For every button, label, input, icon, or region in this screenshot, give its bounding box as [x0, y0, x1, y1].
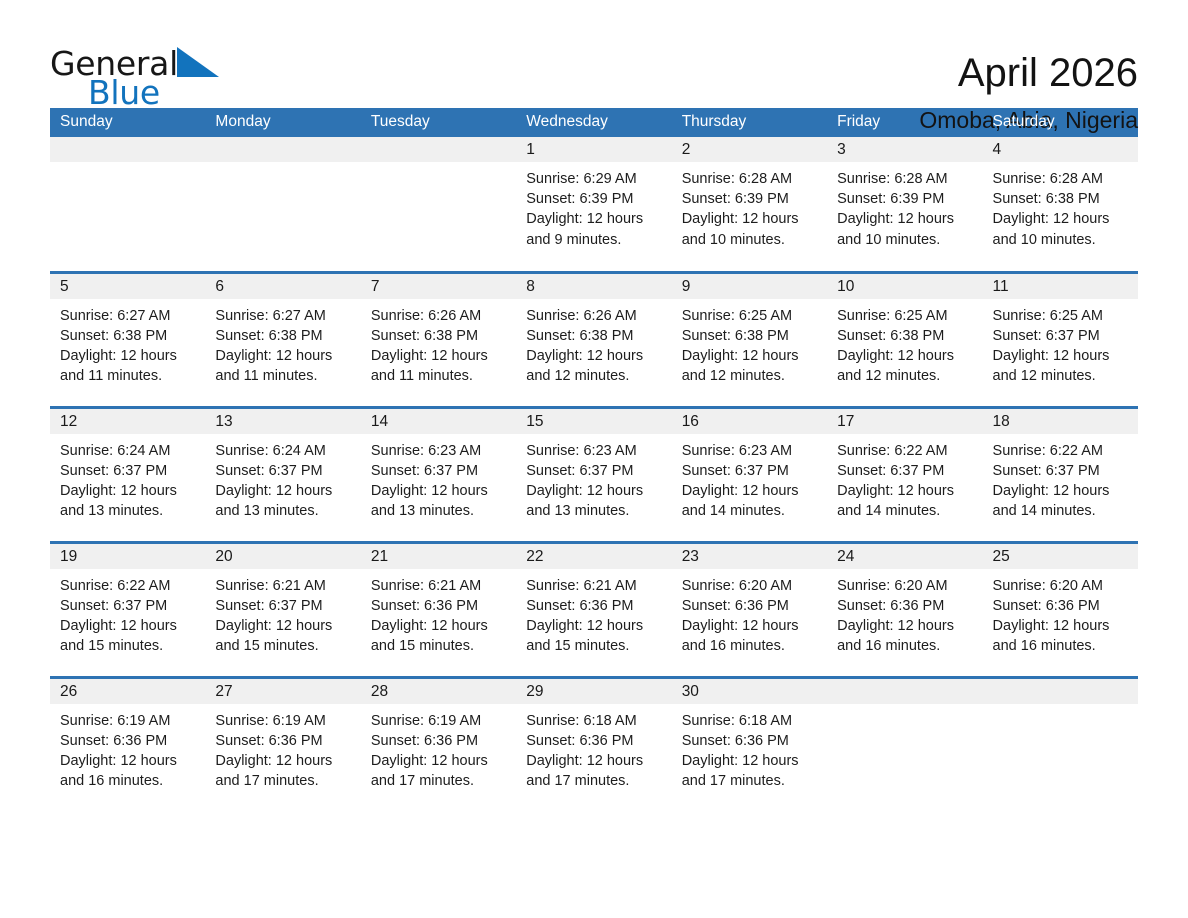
- day-number: [361, 137, 516, 162]
- calendar-day-cell[interactable]: 16Sunrise: 6:23 AMSunset: 6:37 PMDayligh…: [672, 407, 827, 542]
- day-number: 30: [672, 679, 827, 704]
- weekday-header-wednesday: Wednesday: [516, 108, 671, 137]
- calendar-day-cell[interactable]: 11Sunrise: 6:25 AMSunset: 6:37 PMDayligh…: [983, 272, 1138, 407]
- day-number: 6: [205, 274, 360, 299]
- day-number: 11: [983, 274, 1138, 299]
- calendar-day-cell[interactable]: 19Sunrise: 6:22 AMSunset: 6:37 PMDayligh…: [50, 542, 205, 677]
- weekday-header-thursday: Thursday: [672, 108, 827, 137]
- day-number: [205, 137, 360, 162]
- daylight-text-line2: and 10 minutes.: [993, 230, 1138, 250]
- day-details: Sunrise: 6:21 AMSunset: 6:36 PMDaylight:…: [361, 569, 516, 657]
- day-number: [983, 679, 1138, 704]
- day-number: 22: [516, 544, 671, 569]
- daylight-text-line2: and 13 minutes.: [215, 501, 360, 521]
- calendar-day-cell[interactable]: 22Sunrise: 6:21 AMSunset: 6:36 PMDayligh…: [516, 542, 671, 677]
- calendar-day-cell[interactable]: 18Sunrise: 6:22 AMSunset: 6:37 PMDayligh…: [983, 407, 1138, 542]
- calendar-day-cell[interactable]: 10Sunrise: 6:25 AMSunset: 6:38 PMDayligh…: [827, 272, 982, 407]
- daylight-text-line1: Daylight: 12 hours: [682, 616, 827, 636]
- calendar-week-row: 1Sunrise: 6:29 AMSunset: 6:39 PMDaylight…: [50, 137, 1138, 272]
- calendar-day-cell[interactable]: 3Sunrise: 6:28 AMSunset: 6:39 PMDaylight…: [827, 137, 982, 272]
- page-title: April 2026: [919, 49, 1138, 97]
- sunrise-text: Sunrise: 6:27 AM: [60, 306, 205, 326]
- day-number: 17: [827, 409, 982, 434]
- daylight-text-line1: Daylight: 12 hours: [215, 616, 360, 636]
- day-number: 5: [50, 274, 205, 299]
- sunrise-text: Sunrise: 6:22 AM: [60, 576, 205, 596]
- sunrise-text: Sunrise: 6:29 AM: [526, 169, 671, 189]
- daylight-text-line1: Daylight: 12 hours: [682, 481, 827, 501]
- daylight-text-line1: Daylight: 12 hours: [526, 481, 671, 501]
- daylight-text-line1: Daylight: 12 hours: [526, 346, 671, 366]
- calendar-day-cell[interactable]: 1Sunrise: 6:29 AMSunset: 6:39 PMDaylight…: [516, 137, 671, 272]
- daylight-text-line2: and 16 minutes.: [993, 636, 1138, 656]
- daylight-text-line2: and 11 minutes.: [371, 366, 516, 386]
- day-details: Sunrise: 6:19 AMSunset: 6:36 PMDaylight:…: [50, 704, 205, 792]
- daylight-text-line2: and 15 minutes.: [60, 636, 205, 656]
- sunrise-text: Sunrise: 6:28 AM: [993, 169, 1138, 189]
- day-number: 16: [672, 409, 827, 434]
- day-details: Sunrise: 6:22 AMSunset: 6:37 PMDaylight:…: [827, 434, 982, 522]
- day-details: Sunrise: 6:29 AMSunset: 6:39 PMDaylight:…: [516, 162, 671, 250]
- sunrise-text: Sunrise: 6:28 AM: [682, 169, 827, 189]
- calendar-day-cell[interactable]: 14Sunrise: 6:23 AMSunset: 6:37 PMDayligh…: [361, 407, 516, 542]
- calendar-week-row: 12Sunrise: 6:24 AMSunset: 6:37 PMDayligh…: [50, 407, 1138, 542]
- weekday-header-tuesday: Tuesday: [361, 108, 516, 137]
- calendar-day-cell[interactable]: 27Sunrise: 6:19 AMSunset: 6:36 PMDayligh…: [205, 677, 360, 812]
- sunset-text: Sunset: 6:36 PM: [526, 596, 671, 616]
- sunrise-text: Sunrise: 6:27 AM: [215, 306, 360, 326]
- daylight-text-line2: and 14 minutes.: [682, 501, 827, 521]
- calendar-day-cell[interactable]: 7Sunrise: 6:26 AMSunset: 6:38 PMDaylight…: [361, 272, 516, 407]
- sunset-text: Sunset: 6:39 PM: [837, 189, 982, 209]
- sunrise-text: Sunrise: 6:19 AM: [215, 711, 360, 731]
- day-number: 21: [361, 544, 516, 569]
- daylight-text-line2: and 13 minutes.: [526, 501, 671, 521]
- day-details: [827, 704, 982, 711]
- daylight-text-line1: Daylight: 12 hours: [60, 481, 205, 501]
- sunset-text: Sunset: 6:36 PM: [371, 731, 516, 751]
- day-number: 28: [361, 679, 516, 704]
- sunrise-text: Sunrise: 6:22 AM: [993, 441, 1138, 461]
- daylight-text-line2: and 15 minutes.: [526, 636, 671, 656]
- day-number: 19: [50, 544, 205, 569]
- daylight-text-line1: Daylight: 12 hours: [60, 346, 205, 366]
- daylight-text-line1: Daylight: 12 hours: [60, 751, 205, 771]
- day-number: 8: [516, 274, 671, 299]
- calendar-week-row: 26Sunrise: 6:19 AMSunset: 6:36 PMDayligh…: [50, 677, 1138, 812]
- sunrise-text: Sunrise: 6:25 AM: [993, 306, 1138, 326]
- day-details: Sunrise: 6:25 AMSunset: 6:38 PMDaylight:…: [672, 299, 827, 387]
- daylight-text-line2: and 16 minutes.: [60, 771, 205, 791]
- day-details: Sunrise: 6:26 AMSunset: 6:38 PMDaylight:…: [516, 299, 671, 387]
- sunrise-text: Sunrise: 6:19 AM: [60, 711, 205, 731]
- sunset-text: Sunset: 6:38 PM: [993, 189, 1138, 209]
- day-number: 1: [516, 137, 671, 162]
- sunset-text: Sunset: 6:37 PM: [993, 461, 1138, 481]
- daylight-text-line2: and 12 minutes.: [682, 366, 827, 386]
- calendar-day-cell[interactable]: 20Sunrise: 6:21 AMSunset: 6:37 PMDayligh…: [205, 542, 360, 677]
- sunrise-text: Sunrise: 6:24 AM: [215, 441, 360, 461]
- calendar-day-cell[interactable]: 8Sunrise: 6:26 AMSunset: 6:38 PMDaylight…: [516, 272, 671, 407]
- day-details: Sunrise: 6:21 AMSunset: 6:36 PMDaylight:…: [516, 569, 671, 657]
- calendar-week-row: 19Sunrise: 6:22 AMSunset: 6:37 PMDayligh…: [50, 542, 1138, 677]
- sunrise-text: Sunrise: 6:26 AM: [371, 306, 516, 326]
- sunset-text: Sunset: 6:37 PM: [371, 461, 516, 481]
- sunset-text: Sunset: 6:37 PM: [526, 461, 671, 481]
- daylight-text-line1: Daylight: 12 hours: [526, 751, 671, 771]
- day-details: Sunrise: 6:19 AMSunset: 6:36 PMDaylight:…: [205, 704, 360, 792]
- sunset-text: Sunset: 6:38 PM: [682, 326, 827, 346]
- daylight-text-line2: and 17 minutes.: [526, 771, 671, 791]
- sunset-text: Sunset: 6:36 PM: [371, 596, 516, 616]
- day-details: Sunrise: 6:25 AMSunset: 6:38 PMDaylight:…: [827, 299, 982, 387]
- calendar-day-cell-empty: [205, 137, 360, 272]
- calendar-day-cell[interactable]: 23Sunrise: 6:20 AMSunset: 6:36 PMDayligh…: [672, 542, 827, 677]
- day-details: Sunrise: 6:28 AMSunset: 6:39 PMDaylight:…: [827, 162, 982, 250]
- sunrise-text: Sunrise: 6:18 AM: [526, 711, 671, 731]
- daylight-text-line2: and 12 minutes.: [993, 366, 1138, 386]
- daylight-text-line1: Daylight: 12 hours: [993, 481, 1138, 501]
- daylight-text-line1: Daylight: 12 hours: [837, 616, 982, 636]
- day-details: Sunrise: 6:18 AMSunset: 6:36 PMDaylight:…: [516, 704, 671, 792]
- day-number: 25: [983, 544, 1138, 569]
- calendar-day-cell-empty: [827, 677, 982, 812]
- daylight-text-line1: Daylight: 12 hours: [837, 481, 982, 501]
- sunrise-text: Sunrise: 6:18 AM: [682, 711, 827, 731]
- sunset-text: Sunset: 6:37 PM: [215, 596, 360, 616]
- day-number: 2: [672, 137, 827, 162]
- day-number: 7: [361, 274, 516, 299]
- daylight-text-line2: and 17 minutes.: [371, 771, 516, 791]
- day-number: 15: [516, 409, 671, 434]
- calendar-day-cell[interactable]: 4Sunrise: 6:28 AMSunset: 6:38 PMDaylight…: [983, 137, 1138, 272]
- day-number: 12: [50, 409, 205, 434]
- day-number: [50, 137, 205, 162]
- day-number: 9: [672, 274, 827, 299]
- day-details: Sunrise: 6:24 AMSunset: 6:37 PMDaylight:…: [205, 434, 360, 522]
- sunset-text: Sunset: 6:37 PM: [60, 596, 205, 616]
- calendar-page: General Blue April 2026 Omoba, Abia, Nig…: [0, 0, 1188, 918]
- sunrise-text: Sunrise: 6:20 AM: [993, 576, 1138, 596]
- daylight-text-line1: Daylight: 12 hours: [526, 616, 671, 636]
- daylight-text-line1: Daylight: 12 hours: [371, 346, 516, 366]
- calendar-day-cell[interactable]: 2Sunrise: 6:28 AMSunset: 6:39 PMDaylight…: [672, 137, 827, 272]
- sunset-text: Sunset: 6:37 PM: [837, 461, 982, 481]
- daylight-text-line2: and 14 minutes.: [837, 501, 982, 521]
- daylight-text-line2: and 17 minutes.: [682, 771, 827, 791]
- calendar-day-cell-empty: [50, 137, 205, 272]
- daylight-text-line1: Daylight: 12 hours: [993, 209, 1138, 229]
- daylight-text-line1: Daylight: 12 hours: [371, 616, 516, 636]
- sunset-text: Sunset: 6:36 PM: [526, 731, 671, 751]
- day-details: Sunrise: 6:22 AMSunset: 6:37 PMDaylight:…: [983, 434, 1138, 522]
- calendar-day-cell[interactable]: 6Sunrise: 6:27 AMSunset: 6:38 PMDaylight…: [205, 272, 360, 407]
- daylight-text-line1: Daylight: 12 hours: [215, 481, 360, 501]
- day-number: 29: [516, 679, 671, 704]
- calendar-day-cell[interactable]: 29Sunrise: 6:18 AMSunset: 6:36 PMDayligh…: [516, 677, 671, 812]
- daylight-text-line1: Daylight: 12 hours: [215, 751, 360, 771]
- sunrise-text: Sunrise: 6:22 AM: [837, 441, 982, 461]
- sunrise-text: Sunrise: 6:24 AM: [60, 441, 205, 461]
- day-details: Sunrise: 6:18 AMSunset: 6:36 PMDaylight:…: [672, 704, 827, 792]
- day-details: Sunrise: 6:24 AMSunset: 6:37 PMDaylight:…: [50, 434, 205, 522]
- sunset-text: Sunset: 6:37 PM: [215, 461, 360, 481]
- day-number: 27: [205, 679, 360, 704]
- calendar-day-cell[interactable]: 24Sunrise: 6:20 AMSunset: 6:36 PMDayligh…: [827, 542, 982, 677]
- sunset-text: Sunset: 6:38 PM: [837, 326, 982, 346]
- daylight-text-line1: Daylight: 12 hours: [682, 751, 827, 771]
- day-details: Sunrise: 6:19 AMSunset: 6:36 PMDaylight:…: [361, 704, 516, 792]
- daylight-text-line2: and 9 minutes.: [526, 230, 671, 250]
- daylight-text-line1: Daylight: 12 hours: [60, 616, 205, 636]
- daylight-text-line2: and 10 minutes.: [682, 230, 827, 250]
- sunset-text: Sunset: 6:38 PM: [526, 326, 671, 346]
- daylight-text-line2: and 11 minutes.: [215, 366, 360, 386]
- daylight-text-line1: Daylight: 12 hours: [371, 481, 516, 501]
- sunrise-text: Sunrise: 6:25 AM: [682, 306, 827, 326]
- day-number: 13: [205, 409, 360, 434]
- sunset-text: Sunset: 6:37 PM: [60, 461, 205, 481]
- daylight-text-line1: Daylight: 12 hours: [371, 751, 516, 771]
- day-number: [827, 679, 982, 704]
- calendar-day-cell[interactable]: 13Sunrise: 6:24 AMSunset: 6:37 PMDayligh…: [205, 407, 360, 542]
- day-number: 24: [827, 544, 982, 569]
- daylight-text-line1: Daylight: 12 hours: [682, 209, 827, 229]
- page-header: General Blue April 2026 Omoba, Abia, Nig…: [50, 0, 1138, 98]
- day-details: Sunrise: 6:26 AMSunset: 6:38 PMDaylight:…: [361, 299, 516, 387]
- day-details: Sunrise: 6:20 AMSunset: 6:36 PMDaylight:…: [827, 569, 982, 657]
- daylight-text-line2: and 11 minutes.: [60, 366, 205, 386]
- day-number: 23: [672, 544, 827, 569]
- sunset-text: Sunset: 6:38 PM: [60, 326, 205, 346]
- generalblue-logo[interactable]: General Blue: [50, 47, 250, 117]
- day-details: Sunrise: 6:20 AMSunset: 6:36 PMDaylight:…: [983, 569, 1138, 657]
- sunrise-text: Sunrise: 6:26 AM: [526, 306, 671, 326]
- day-details: Sunrise: 6:25 AMSunset: 6:37 PMDaylight:…: [983, 299, 1138, 387]
- daylight-text-line2: and 15 minutes.: [371, 636, 516, 656]
- daylight-text-line2: and 17 minutes.: [215, 771, 360, 791]
- day-number: 14: [361, 409, 516, 434]
- daylight-text-line2: and 10 minutes.: [837, 230, 982, 250]
- sunset-text: Sunset: 6:39 PM: [526, 189, 671, 209]
- calendar-day-cell[interactable]: 5Sunrise: 6:27 AMSunset: 6:38 PMDaylight…: [50, 272, 205, 407]
- calendar-day-cell[interactable]: 12Sunrise: 6:24 AMSunset: 6:37 PMDayligh…: [50, 407, 205, 542]
- day-details: Sunrise: 6:20 AMSunset: 6:36 PMDaylight:…: [672, 569, 827, 657]
- daylight-text-line2: and 14 minutes.: [993, 501, 1138, 521]
- sunset-text: Sunset: 6:39 PM: [682, 189, 827, 209]
- calendar-day-cell[interactable]: 21Sunrise: 6:21 AMSunset: 6:36 PMDayligh…: [361, 542, 516, 677]
- sunrise-text: Sunrise: 6:21 AM: [371, 576, 516, 596]
- sunset-text: Sunset: 6:36 PM: [60, 731, 205, 751]
- calendar-day-cell-empty: [361, 137, 516, 272]
- day-details: [50, 162, 205, 169]
- calendar-day-cell[interactable]: 17Sunrise: 6:22 AMSunset: 6:37 PMDayligh…: [827, 407, 982, 542]
- calendar-day-cell[interactable]: 28Sunrise: 6:19 AMSunset: 6:36 PMDayligh…: [361, 677, 516, 812]
- sunset-text: Sunset: 6:36 PM: [993, 596, 1138, 616]
- daylight-text-line2: and 12 minutes.: [526, 366, 671, 386]
- sunrise-text: Sunrise: 6:23 AM: [371, 441, 516, 461]
- daylight-text-line1: Daylight: 12 hours: [682, 346, 827, 366]
- calendar-day-cell[interactable]: 26Sunrise: 6:19 AMSunset: 6:36 PMDayligh…: [50, 677, 205, 812]
- sunrise-text: Sunrise: 6:23 AM: [682, 441, 827, 461]
- day-details: Sunrise: 6:23 AMSunset: 6:37 PMDaylight:…: [516, 434, 671, 522]
- day-details: [205, 162, 360, 169]
- daylight-text-line1: Daylight: 12 hours: [837, 209, 982, 229]
- sunrise-text: Sunrise: 6:20 AM: [837, 576, 982, 596]
- day-details: Sunrise: 6:28 AMSunset: 6:39 PMDaylight:…: [672, 162, 827, 250]
- day-details: Sunrise: 6:21 AMSunset: 6:37 PMDaylight:…: [205, 569, 360, 657]
- day-details: [361, 162, 516, 169]
- daylight-text-line1: Daylight: 12 hours: [215, 346, 360, 366]
- daylight-text-line2: and 12 minutes.: [837, 366, 982, 386]
- calendar-day-cell[interactable]: 30Sunrise: 6:18 AMSunset: 6:36 PMDayligh…: [672, 677, 827, 812]
- day-number: 10: [827, 274, 982, 299]
- day-number: 20: [205, 544, 360, 569]
- sunset-text: Sunset: 6:36 PM: [682, 596, 827, 616]
- day-number: 3: [827, 137, 982, 162]
- day-details: Sunrise: 6:22 AMSunset: 6:37 PMDaylight:…: [50, 569, 205, 657]
- daylight-text-line1: Daylight: 12 hours: [993, 616, 1138, 636]
- sunrise-text: Sunrise: 6:20 AM: [682, 576, 827, 596]
- day-number: 4: [983, 137, 1138, 162]
- calendar-day-cell[interactable]: 9Sunrise: 6:25 AMSunset: 6:38 PMDaylight…: [672, 272, 827, 407]
- calendar-day-cell[interactable]: 15Sunrise: 6:23 AMSunset: 6:37 PMDayligh…: [516, 407, 671, 542]
- sunrise-text: Sunrise: 6:21 AM: [215, 576, 360, 596]
- day-number: 18: [983, 409, 1138, 434]
- logo-triangle-icon: [177, 47, 219, 77]
- daylight-text-line1: Daylight: 12 hours: [526, 209, 671, 229]
- sunrise-text: Sunrise: 6:25 AM: [837, 306, 982, 326]
- daylight-text-line1: Daylight: 12 hours: [993, 346, 1138, 366]
- sunrise-text: Sunrise: 6:19 AM: [371, 711, 516, 731]
- daylight-text-line2: and 16 minutes.: [682, 636, 827, 656]
- sunset-text: Sunset: 6:36 PM: [215, 731, 360, 751]
- day-details: Sunrise: 6:27 AMSunset: 6:38 PMDaylight:…: [50, 299, 205, 387]
- sunset-text: Sunset: 6:36 PM: [682, 731, 827, 751]
- day-number: 26: [50, 679, 205, 704]
- sunset-text: Sunset: 6:38 PM: [371, 326, 516, 346]
- sunset-text: Sunset: 6:36 PM: [837, 596, 982, 616]
- daylight-text-line1: Daylight: 12 hours: [837, 346, 982, 366]
- calendar-week-row: 5Sunrise: 6:27 AMSunset: 6:38 PMDaylight…: [50, 272, 1138, 407]
- calendar-day-cell[interactable]: 25Sunrise: 6:20 AMSunset: 6:36 PMDayligh…: [983, 542, 1138, 677]
- calendar-body: 1Sunrise: 6:29 AMSunset: 6:39 PMDaylight…: [50, 137, 1138, 812]
- daylight-text-line2: and 16 minutes.: [837, 636, 982, 656]
- sunset-text: Sunset: 6:37 PM: [682, 461, 827, 481]
- sunrise-text: Sunrise: 6:21 AM: [526, 576, 671, 596]
- calendar-day-cell-empty: [983, 677, 1138, 812]
- daylight-text-line2: and 13 minutes.: [371, 501, 516, 521]
- day-details: Sunrise: 6:23 AMSunset: 6:37 PMDaylight:…: [672, 434, 827, 522]
- day-details: Sunrise: 6:28 AMSunset: 6:38 PMDaylight:…: [983, 162, 1138, 250]
- sunrise-text: Sunrise: 6:23 AM: [526, 441, 671, 461]
- daylight-text-line2: and 15 minutes.: [215, 636, 360, 656]
- sunset-text: Sunset: 6:37 PM: [993, 326, 1138, 346]
- sunset-text: Sunset: 6:38 PM: [215, 326, 360, 346]
- day-details: [983, 704, 1138, 711]
- calendar-table: Sunday Monday Tuesday Wednesday Thursday…: [50, 108, 1138, 812]
- sunrise-text: Sunrise: 6:28 AM: [837, 169, 982, 189]
- day-details: Sunrise: 6:23 AMSunset: 6:37 PMDaylight:…: [361, 434, 516, 522]
- day-details: Sunrise: 6:27 AMSunset: 6:38 PMDaylight:…: [205, 299, 360, 387]
- daylight-text-line2: and 13 minutes.: [60, 501, 205, 521]
